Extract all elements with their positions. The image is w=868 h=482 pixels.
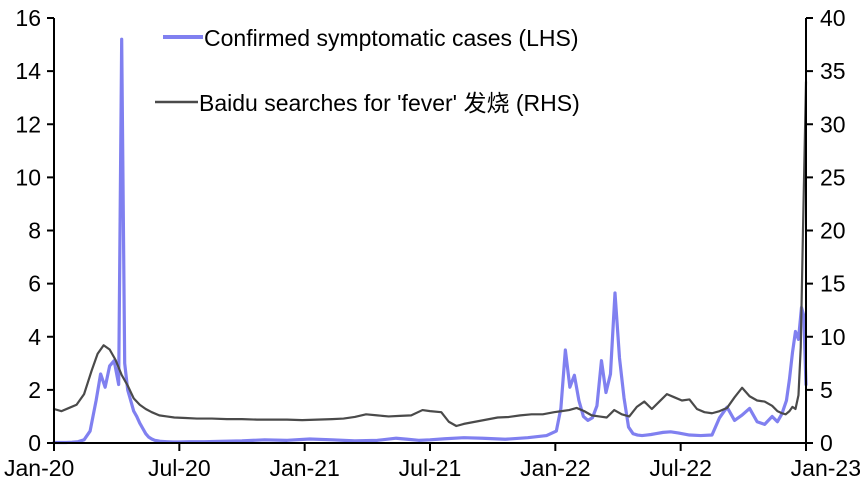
chart-container: 02468101214160510152025303540Jan-20Jul-2…: [0, 0, 868, 482]
left-tick-label: 8: [28, 218, 41, 244]
chart-svg: 02468101214160510152025303540Jan-20Jul-2…: [0, 0, 868, 482]
left-tick-label: 12: [15, 111, 41, 137]
left-tick-label: 10: [15, 164, 41, 190]
legend-label-0: Confirmed symptomatic cases (LHS): [204, 25, 579, 51]
right-tick-label: 0: [820, 430, 833, 456]
axes-group: [47, 18, 813, 451]
right-tick-label: 30: [820, 111, 846, 137]
x-tick-label: Jan-22: [520, 455, 590, 481]
left-tick-label: 14: [15, 58, 41, 84]
plot-area: 02468101214160510152025303540Jan-20Jul-2…: [4, 5, 861, 481]
right-tick-label: 5: [820, 377, 833, 403]
x-tick-label: Jul-21: [399, 455, 462, 481]
left-tick-label: 16: [15, 5, 41, 31]
right-tick-label: 10: [820, 324, 846, 350]
left-tick-label: 2: [28, 377, 41, 403]
right-tick-label: 25: [820, 164, 846, 190]
left-tick-label: 4: [28, 324, 41, 350]
x-tick-label: Jan-21: [270, 455, 340, 481]
legend-label-1: Baidu searches for 'fever' 发烧 (RHS): [199, 90, 580, 116]
x-tick-label: Jan-23: [791, 455, 861, 481]
right-tick-label: 40: [820, 5, 846, 31]
chart-legend: Confirmed symptomatic cases (LHS)Baidu s…: [155, 25, 580, 116]
right-tick-label: 35: [820, 58, 846, 84]
right-tick-label: 15: [820, 271, 846, 297]
series-line-1: [54, 82, 806, 426]
x-tick-label: Jul-22: [649, 455, 712, 481]
x-tick-label: Jan-20: [4, 455, 74, 481]
right-tick-label: 20: [820, 218, 846, 244]
x-tick-label: Jul-20: [148, 455, 211, 481]
left-tick-label: 0: [28, 430, 41, 456]
left-tick-label: 6: [28, 271, 41, 297]
